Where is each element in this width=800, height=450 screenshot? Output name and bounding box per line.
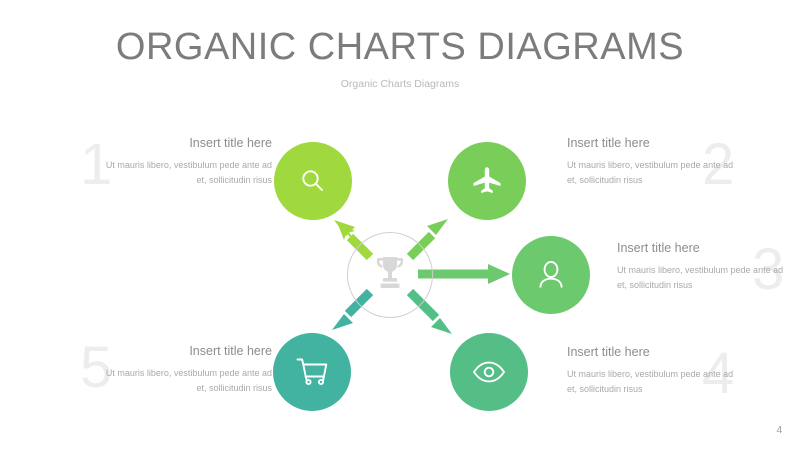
slide-canvas: ORGANIC CHARTS DIAGRAMS Organic Charts D… xyxy=(0,0,800,450)
text-block-4-title: Insert title here xyxy=(567,345,743,360)
page-subtitle: Organic Charts Diagrams xyxy=(0,78,800,90)
node-4-eye[interactable] xyxy=(450,333,528,411)
organic-chart-diagram xyxy=(260,128,580,428)
node-5-shopping-cart[interactable] xyxy=(273,333,351,411)
airplane-icon xyxy=(471,165,503,197)
text-block-2: Insert title here Ut mauris libero, vest… xyxy=(567,136,743,187)
text-block-3-body: Ut mauris libero, vestibulum pede ante a… xyxy=(617,263,793,292)
text-block-5: Insert title here Ut mauris libero, vest… xyxy=(96,344,272,395)
text-block-5-body: Ut mauris libero, vestibulum pede ante a… xyxy=(96,366,272,395)
text-block-1-body: Ut mauris libero, vestibulum pede ante a… xyxy=(96,158,272,187)
text-block-5-title: Insert title here xyxy=(96,344,272,359)
center-ring xyxy=(347,232,433,318)
eye-icon xyxy=(472,361,506,383)
user-icon xyxy=(536,259,566,291)
text-block-3: Insert title here Ut mauris libero, vest… xyxy=(617,241,793,292)
node-2-airplane[interactable] xyxy=(448,142,526,220)
node-3-user[interactable] xyxy=(512,236,590,314)
page-title: ORGANIC CHARTS DIAGRAMS xyxy=(0,26,800,69)
text-block-4: Insert title here Ut mauris libero, vest… xyxy=(567,345,743,396)
text-block-2-body: Ut mauris libero, vestibulum pede ante a… xyxy=(567,158,743,187)
node-1-search[interactable] xyxy=(274,142,352,220)
text-block-1-title: Insert title here xyxy=(96,136,272,151)
text-block-1: Insert title here Ut mauris libero, vest… xyxy=(96,136,272,187)
text-block-3-title: Insert title here xyxy=(617,241,793,256)
text-block-4-body: Ut mauris libero, vestibulum pede ante a… xyxy=(567,367,743,396)
trophy-icon xyxy=(373,254,407,297)
text-block-2-title: Insert title here xyxy=(567,136,743,151)
shopping-cart-icon xyxy=(295,357,329,387)
page-number: 4 xyxy=(776,425,782,436)
search-icon xyxy=(298,166,328,196)
